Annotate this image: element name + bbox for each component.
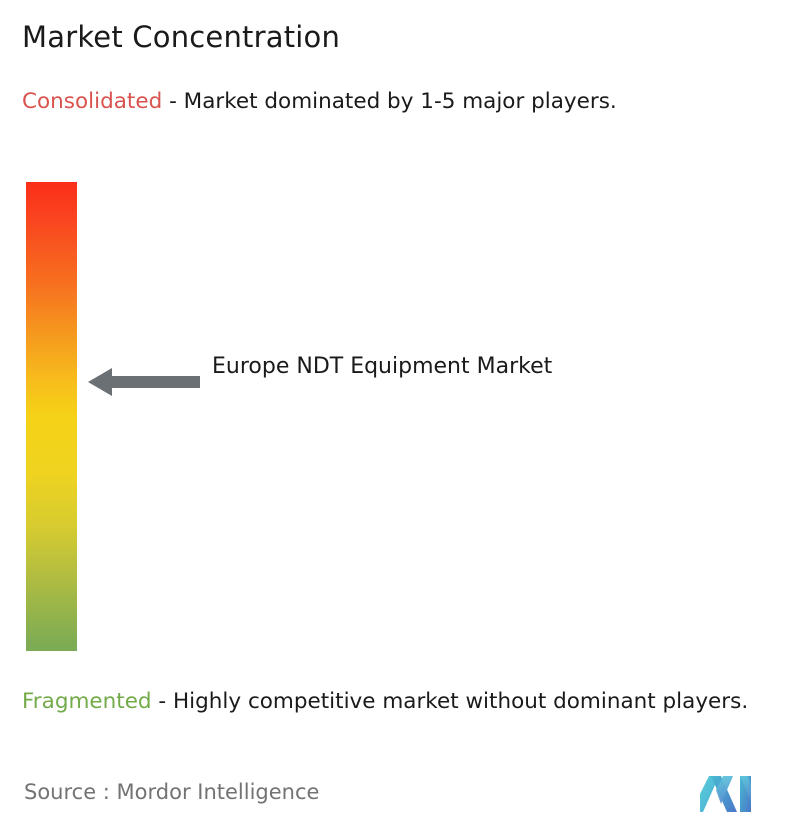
left-arrow-icon <box>88 368 200 396</box>
legend-fragmented-term: Fragmented <box>22 689 152 714</box>
legend-fragmented: Fragmented - Highly competitive market w… <box>22 686 784 718</box>
legend-consolidated-term: Consolidated <box>22 89 162 114</box>
market-position-label: Europe NDT Equipment Market <box>212 351 572 383</box>
legend-fragmented-description: - Highly competitive market without domi… <box>152 689 749 714</box>
legend-consolidated: Consolidated - Market dominated by 1-5 m… <box>22 86 784 118</box>
legend-consolidated-description: - Market dominated by 1-5 major players. <box>162 89 617 114</box>
source-attribution: Source : Mordor Intelligence <box>24 780 319 804</box>
page-title: Market Concentration <box>22 20 340 54</box>
concentration-gradient-scale <box>26 182 77 651</box>
mordor-intelligence-logo-icon <box>699 774 761 814</box>
market-position-marker: Europe NDT Equipment Market <box>88 360 568 430</box>
